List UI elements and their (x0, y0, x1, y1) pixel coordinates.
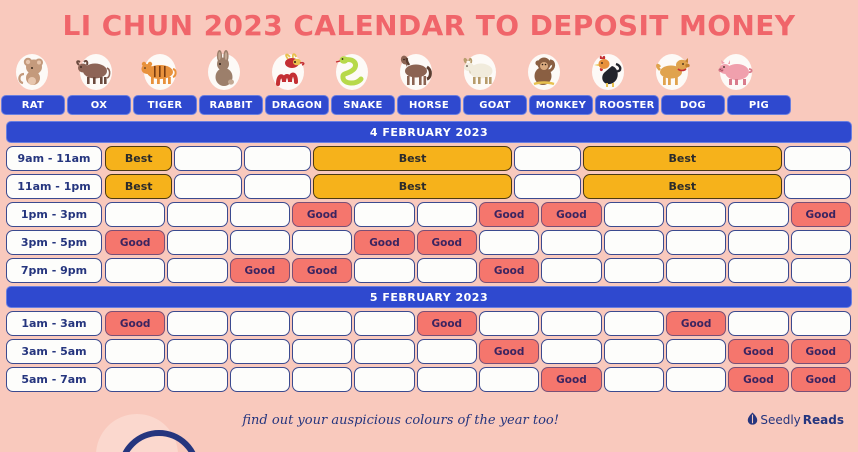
calendar-cell-empty[interactable] (105, 367, 165, 392)
calendar-cell-good[interactable]: Good (791, 202, 851, 227)
calendar-cell-empty[interactable] (167, 311, 227, 336)
footer: find out your auspicious colours of the … (0, 400, 858, 440)
calendar-cell-empty[interactable] (666, 230, 726, 255)
calendar-cell-empty[interactable] (354, 258, 414, 283)
calendar-cell-empty[interactable] (417, 367, 477, 392)
calendar-row: 7pm - 9pmGoodGoodGood (6, 258, 852, 283)
calendar-cell-empty[interactable] (105, 202, 165, 227)
calendar-cell-empty[interactable] (541, 339, 601, 364)
dog-icon (640, 46, 704, 94)
zodiac-header-monkey[interactable]: MONKEY (529, 95, 593, 115)
calendar-cell-empty[interactable] (604, 339, 664, 364)
brand-name-bold: Reads (803, 413, 844, 427)
calendar-cell-good[interactable]: Good (105, 230, 165, 255)
calendar-cell-empty[interactable] (105, 258, 165, 283)
calendar-cell-empty[interactable] (479, 311, 539, 336)
calendar-cell-empty[interactable] (354, 339, 414, 364)
zodiac-header-rooster[interactable]: ROOSTER (595, 95, 659, 115)
calendar-cell-empty[interactable] (666, 258, 726, 283)
calendar-cell-empty[interactable] (417, 258, 477, 283)
date-band: 5 FEBRUARY 2023 (6, 286, 852, 308)
calendar-cell-empty[interactable] (174, 146, 241, 171)
calendar-cell-best[interactable]: Best (583, 174, 781, 199)
zodiac-header-horse[interactable]: HORSE (397, 95, 461, 115)
calendar-cell-empty[interactable] (230, 311, 290, 336)
calendar-cell-empty[interactable] (666, 367, 726, 392)
time-slot-label: 7pm - 9pm (6, 258, 102, 283)
calendar-cell-good[interactable]: Good (728, 339, 788, 364)
calendar-cell-good[interactable]: Good (541, 202, 601, 227)
calendar-cell-good[interactable]: Good (728, 367, 788, 392)
calendar-cell-empty[interactable] (514, 146, 581, 171)
zodiac-header-row: RATOXTIGERRABBITDRAGONSNAKEHORSEGOATMONK… (0, 95, 858, 115)
horse-icon (384, 46, 448, 94)
date-band: 4 FEBRUARY 2023 (6, 121, 852, 143)
calendar-cell-empty[interactable] (167, 339, 227, 364)
calendar-table: 4 FEBRUARY 20239am - 11amBestBestBest11a… (0, 121, 858, 392)
zodiac-header-goat[interactable]: GOAT (463, 95, 527, 115)
calendar-cell-empty[interactable] (604, 367, 664, 392)
calendar-cell-best[interactable]: Best (105, 174, 172, 199)
calendar-cell-empty[interactable] (167, 230, 227, 255)
calendar-cell-good[interactable]: Good (666, 311, 726, 336)
calendar-cell-empty[interactable] (784, 146, 851, 171)
goat-icon (448, 46, 512, 94)
brand-name-light: Seedly (760, 413, 800, 427)
zodiac-header-tiger[interactable]: TIGER (133, 95, 197, 115)
zodiac-header-dog[interactable]: DOG (661, 95, 725, 115)
time-slot-label: 3am - 5am (6, 339, 102, 364)
calendar-cell-empty[interactable] (174, 174, 241, 199)
calendar-cell-empty[interactable] (292, 230, 352, 255)
calendar-cell-empty[interactable] (292, 339, 352, 364)
calendar-cell-empty[interactable] (791, 230, 851, 255)
calendar-cell-empty[interactable] (541, 311, 601, 336)
calendar-cell-empty[interactable] (541, 258, 601, 283)
time-slot-label: 9am - 11am (6, 146, 102, 171)
calendar-cell-best[interactable]: Best (313, 146, 511, 171)
calendar-cell-empty[interactable] (417, 202, 477, 227)
calendar-cell-good[interactable]: Good (479, 202, 539, 227)
calendar-cell-good[interactable]: Good (791, 367, 851, 392)
calendar-cell-empty[interactable] (604, 202, 664, 227)
snake-icon (320, 46, 384, 94)
rabbit-icon (192, 46, 256, 94)
time-slot-label: 1pm - 3pm (6, 202, 102, 227)
calendar-row: 9am - 11amBestBestBest (6, 146, 852, 171)
footer-note: find out your auspicious colours of the … (14, 413, 747, 428)
calendar-cell-good[interactable]: Good (105, 311, 165, 336)
calendar-cell-empty[interactable] (728, 202, 788, 227)
time-slot-label: 3pm - 5pm (6, 230, 102, 255)
calendar-cell-good[interactable]: Good (292, 258, 352, 283)
calendar-cell-empty[interactable] (167, 258, 227, 283)
calendar-cell-empty[interactable] (244, 174, 311, 199)
calendar-cell-good[interactable]: Good (479, 258, 539, 283)
calendar-cell-good[interactable]: Good (417, 230, 477, 255)
page-title: LI CHUN 2023 CALENDAR TO DEPOSIT MONEY (0, 0, 858, 40)
calendar-cell-empty[interactable] (514, 174, 581, 199)
calendar-cell-empty[interactable] (666, 339, 726, 364)
calendar-row: 11am - 1pmBestBestBest (6, 174, 852, 199)
seedly-drop-icon (747, 412, 758, 428)
calendar-row: 5am - 7amGoodGoodGood (6, 367, 852, 392)
calendar-cell-empty[interactable] (728, 311, 788, 336)
rat-icon (0, 46, 64, 94)
ox-icon (64, 46, 128, 94)
calendar-cell-empty[interactable] (666, 202, 726, 227)
zodiac-header-rabbit[interactable]: RABBIT (199, 95, 263, 115)
calendar-cell-best[interactable]: Best (313, 174, 511, 199)
calendar-cell-empty[interactable] (728, 258, 788, 283)
calendar-cell-good[interactable]: Good (791, 339, 851, 364)
calendar-cell-empty[interactable] (167, 202, 227, 227)
calendar-cell-empty[interactable] (230, 339, 290, 364)
zodiac-header-dragon[interactable]: DRAGON (265, 95, 329, 115)
calendar-cell-empty[interactable] (354, 311, 414, 336)
calendar-cell-empty[interactable] (479, 230, 539, 255)
calendar-cell-empty[interactable] (105, 339, 165, 364)
time-slot-label: 11am - 1pm (6, 174, 102, 199)
monkey-icon (512, 46, 576, 94)
calendar-cell-best[interactable]: Best (105, 146, 172, 171)
calendar-cell-empty[interactable] (244, 146, 311, 171)
calendar-cell-empty[interactable] (417, 339, 477, 364)
zodiac-header-snake[interactable]: SNAKE (331, 95, 395, 115)
calendar-cell-empty[interactable] (784, 174, 851, 199)
calendar-cell-good[interactable]: Good (479, 339, 539, 364)
calendar-cell-empty[interactable] (479, 367, 539, 392)
rooster-icon (576, 46, 640, 94)
calendar-cell-good[interactable]: Good (541, 367, 601, 392)
calendar-cell-empty[interactable] (230, 202, 290, 227)
dragon-icon (256, 46, 320, 94)
calendar-cell-empty[interactable] (230, 230, 290, 255)
calendar-cell-best[interactable]: Best (583, 146, 781, 171)
calendar-row: 1am - 3amGoodGoodGood (6, 311, 852, 336)
calendar-cell-empty[interactable] (604, 311, 664, 336)
calendar-cell-empty[interactable] (728, 230, 788, 255)
time-slot-label: 5am - 7am (6, 367, 102, 392)
calendar-row: 3pm - 5pmGoodGoodGood (6, 230, 852, 255)
calendar-row: 3am - 5amGoodGoodGood (6, 339, 852, 364)
calendar-cell-good[interactable]: Good (417, 311, 477, 336)
calendar-cell-empty[interactable] (604, 258, 664, 283)
calendar-cell-empty[interactable] (791, 311, 851, 336)
calendar-cell-empty[interactable] (604, 230, 664, 255)
tiger-icon (128, 46, 192, 94)
brand-logo[interactable]: SeedlyReads (747, 412, 844, 428)
calendar-cell-empty[interactable] (354, 367, 414, 392)
zodiac-header-ox[interactable]: OX (67, 95, 131, 115)
calendar-cell-empty[interactable] (167, 367, 227, 392)
calendar-cell-empty[interactable] (230, 367, 290, 392)
time-slot-label: 1am - 3am (6, 311, 102, 336)
zodiac-header-rat[interactable]: RAT (1, 95, 65, 115)
calendar-row: 1pm - 3pmGoodGoodGoodGood (6, 202, 852, 227)
zodiac-icon-strip (0, 46, 858, 94)
calendar-cell-good[interactable]: Good (230, 258, 290, 283)
zodiac-header-pig[interactable]: PIG (727, 95, 791, 115)
calendar-cell-empty[interactable] (791, 258, 851, 283)
pig-icon (704, 46, 768, 94)
calendar-cell-good[interactable]: Good (354, 230, 414, 255)
calendar-cell-good[interactable]: Good (292, 202, 352, 227)
calendar-cell-empty[interactable] (292, 367, 352, 392)
calendar-cell-empty[interactable] (541, 230, 601, 255)
calendar-cell-empty[interactable] (354, 202, 414, 227)
calendar-cell-empty[interactable] (292, 311, 352, 336)
